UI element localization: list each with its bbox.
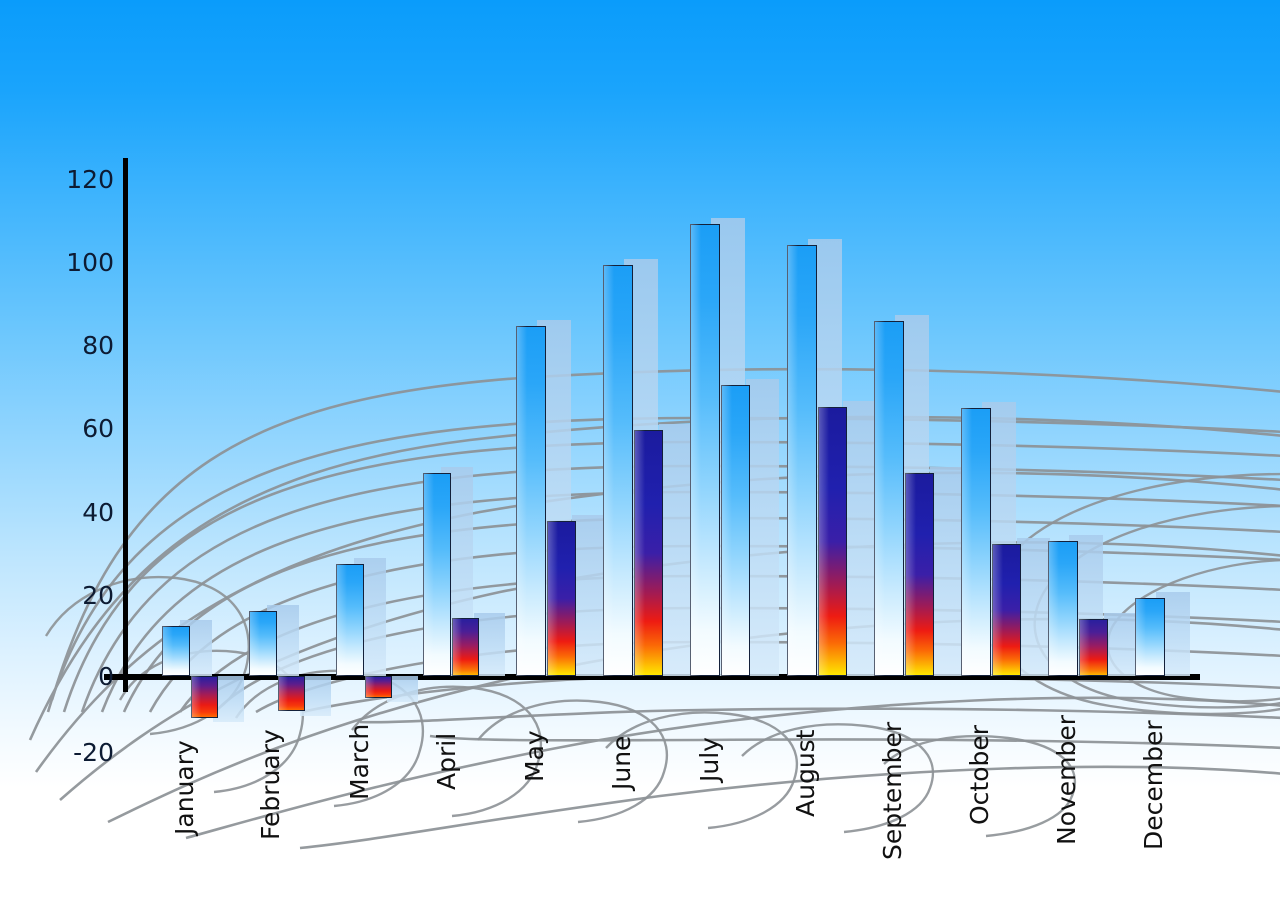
y-tick-20: 20 <box>56 583 114 608</box>
bar-november-series2[interactable] <box>1079 619 1108 676</box>
bar-may-series1[interactable] <box>516 326 546 676</box>
bar-january-series1[interactable] <box>162 626 190 676</box>
bar-november-series2-shadow <box>1104 613 1137 676</box>
bar-september-series2-shadow <box>930 467 963 676</box>
bar-april-series1[interactable] <box>423 473 451 676</box>
bar-february-series2[interactable] <box>278 676 305 711</box>
bar-october-series2-shadow <box>1017 538 1050 676</box>
x-label-june: June <box>609 736 634 790</box>
y-tick-100: 100 <box>56 250 114 275</box>
plot-area: 120 100 80 60 40 20 0 -20 <box>0 0 1280 905</box>
bar-april-series2[interactable] <box>452 618 479 676</box>
bar-march-series1[interactable] <box>336 564 364 676</box>
bar-may-series2-shadow <box>572 515 605 676</box>
bar-june-series2[interactable] <box>634 430 663 676</box>
chart-canvas: 120 100 80 60 40 20 0 -20 <box>0 0 1280 905</box>
y-tick-40: 40 <box>56 500 114 525</box>
bar-may-series2[interactable] <box>547 521 576 676</box>
y-tick-60: 60 <box>56 416 114 441</box>
bar-august-series2[interactable] <box>818 407 847 676</box>
bar-june-series1[interactable] <box>603 265 633 676</box>
y-tick-0: 0 <box>56 664 114 689</box>
bar-july-series2-shadow <box>746 379 779 676</box>
bar-july-series1[interactable] <box>690 224 720 676</box>
y-axis-line <box>123 158 128 692</box>
x-label-august: August <box>793 730 818 818</box>
y-tick-120: 120 <box>56 167 114 192</box>
bar-august-series1[interactable] <box>787 245 817 676</box>
bar-december-series1[interactable] <box>1135 598 1165 676</box>
bar-june-series2-shadow <box>659 424 692 676</box>
y-tick-80: 80 <box>56 333 114 358</box>
x-label-may: May <box>522 730 547 782</box>
x-label-july: July <box>697 737 722 782</box>
x-label-december: December <box>1141 720 1166 850</box>
bar-october-series1[interactable] <box>961 408 991 676</box>
bar-october-series2[interactable] <box>992 544 1021 676</box>
bar-march-series2[interactable] <box>365 676 392 698</box>
x-label-february: February <box>258 729 283 840</box>
x-label-september: September <box>880 722 905 860</box>
x-label-november: November <box>1054 715 1079 845</box>
x-label-january: January <box>172 740 197 835</box>
bar-august-series2-shadow <box>843 401 876 676</box>
bar-november-series1[interactable] <box>1048 541 1078 676</box>
bar-july-series2[interactable] <box>721 385 750 676</box>
bar-september-series2[interactable] <box>905 473 934 676</box>
x-label-october: October <box>967 725 992 825</box>
bar-february-series1[interactable] <box>249 611 277 676</box>
bar-january-series2[interactable] <box>191 676 218 718</box>
x-label-march: March <box>347 724 372 800</box>
x-label-april: April <box>434 733 459 790</box>
bar-september-series1[interactable] <box>874 321 904 676</box>
y-tick-neg20: -20 <box>46 740 114 765</box>
